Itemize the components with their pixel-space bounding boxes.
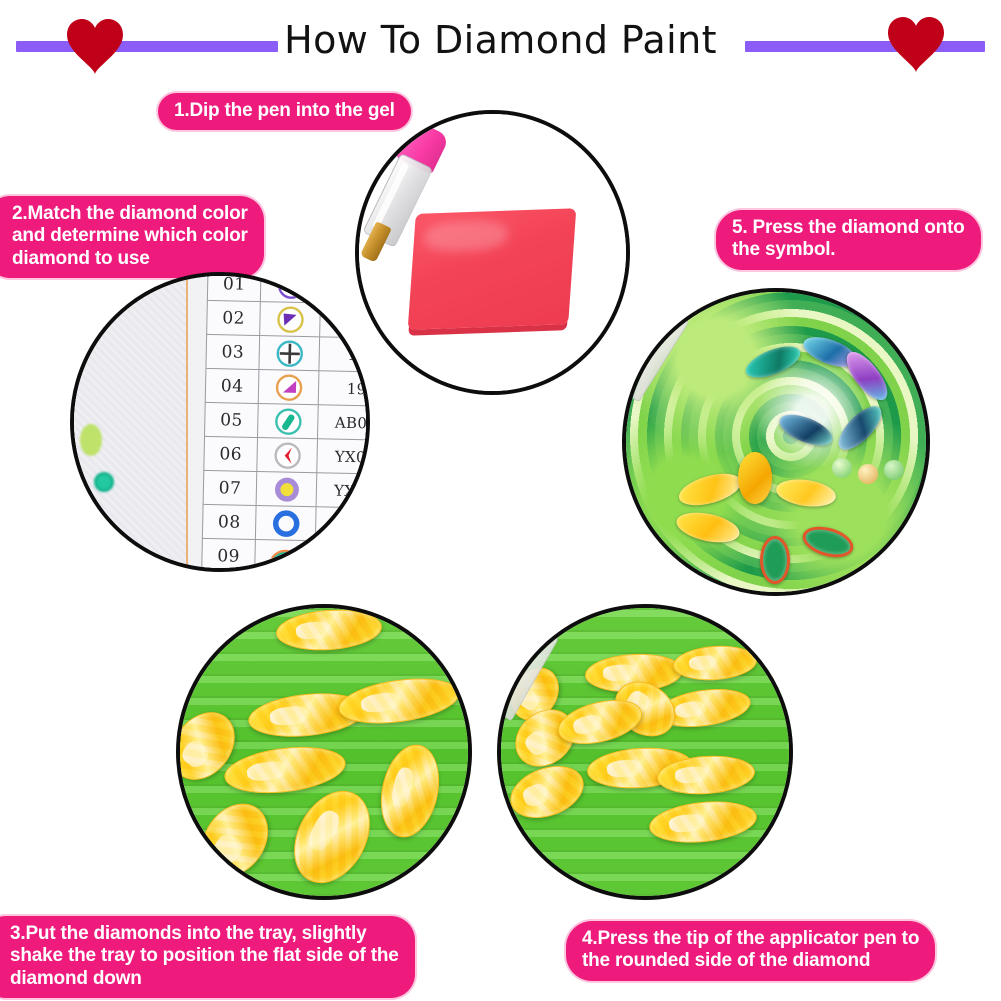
chart-cell-code: YX125 [315,541,370,572]
art-gem-marquise-yellow [674,508,742,548]
symbol-chart-illustration: 0102802093031110419505AB00406YX05807YX08… [74,276,366,568]
art-gem-marquise [742,340,805,384]
chart-edge-stripe [186,276,188,568]
chart-cell-code: 111 [319,337,370,373]
table-row: 04195 [205,368,370,406]
chart-cell-code: 028 [320,272,370,305]
dmc-symbol-table-body: 0102802093031110419505AB00406YX05807YX08… [201,272,370,572]
art-leaf-green [760,536,790,584]
canvas-blob-teal [94,472,114,492]
chart-cell-number: 05 [205,402,259,437]
diamond-gem [672,643,758,683]
chart-cell-symbol [257,438,317,473]
table-row: 08YX106 [202,504,370,542]
applicator-pen [622,298,689,454]
slash-bar-icon [273,406,304,437]
step-2-label: 2.Match the diamond color and determine … [0,196,264,278]
chart-cell-symbol [259,370,319,405]
art-gem-marquise-yellow [676,468,745,512]
chart-cell-symbol [260,302,320,337]
dot-in-ring-icon [271,474,302,505]
diamond-gem [279,778,385,896]
art-gem-marquise [832,400,888,457]
chart-cell-code: AB004 [318,405,370,441]
header: How To Diamond Paint [0,0,1001,90]
diamond-art-canvas-illustration [626,292,926,592]
diamond-gem [647,796,759,847]
diamond-gem [373,739,447,843]
chart-cell-symbol [256,506,316,541]
chart-cell-symbol [258,404,318,439]
table-row: 05AB004 [205,402,370,440]
diamond-gem [222,741,348,800]
step-4-label: 4.Press the tip of the applicator pen to… [566,921,935,981]
table-row: 06YX058 [204,436,370,474]
wax-gel-square [408,208,577,330]
diamond-pickup-illustration [501,608,789,896]
ring-icon [271,508,302,539]
diamond-gem [188,791,281,889]
chart-cell-symbol [259,336,319,371]
chart-cell-number: 03 [206,334,260,369]
diamond-gem [275,606,384,653]
chart-cell-number: 09 [202,538,256,572]
diamond-tray-illustration [180,608,468,896]
canvas-fabric [74,276,186,568]
art-gem-round [832,458,852,478]
chart-cell-code: YX083 [316,473,370,509]
pen-in-gel-illustration [359,114,626,391]
chart-cell-code: YX058 [317,439,370,475]
table-row: 09YX125 [202,538,370,572]
art-gem-marquise [840,346,895,406]
chart-cell-number: 06 [204,436,258,471]
chart-cell-number: 02 [207,300,261,335]
double-dot-icon [276,272,307,301]
chart-cell-number: 07 [203,470,257,505]
step-3-photo [176,604,472,900]
canvas-blob-green [80,424,102,456]
art-gem-marquise [776,408,837,451]
infographic-canvas: How To Diamond Paint 1.Dip the pen into … [0,0,1001,1001]
step-4-photo [497,604,793,900]
step-2-photo: 0102802093031110419505AB00406YX05807YX08… [70,272,370,572]
art-gem-marquise-yellow [774,476,837,510]
plus-icon [274,338,305,369]
chart-cell-number: 04 [205,368,259,403]
chart-cell-code: 195 [318,371,370,407]
table-row: 07YX083 [203,470,370,508]
left-arrow-icon [272,440,303,471]
chart-cell-code: 093 [320,303,370,339]
art-gem-round [858,464,878,484]
quarter-pie-icon [273,372,304,403]
art-gem-round [884,460,904,480]
step-5-label: 5. Press the diamond onto the symbol. [716,210,981,270]
dmc-symbol-table: 0102802093031110419505AB00406YX05807YX08… [200,272,370,572]
pen-tip [497,698,506,755]
chart-cell-symbol [255,540,315,572]
triangle-icon [275,304,306,335]
chart-cell-code: YX106 [315,507,370,543]
step-5-photo [622,288,930,596]
table-row: 01028 [207,272,370,305]
chart-cell-symbol [256,472,316,507]
diamond-gem [503,756,591,827]
step-1-photo [355,110,630,395]
chart-cell-number: 01 [207,272,261,302]
step-3-label: 3.Put the diamonds into the tray, slight… [0,916,415,998]
chart-cell-number: 08 [202,504,256,539]
table-row: 02093 [207,300,370,338]
art-leaf-green [799,521,857,562]
page-title: How To Diamond Paint [0,18,1001,62]
chart-cell-symbol [261,272,321,303]
art-gem-placed-yellow [738,452,772,504]
table-row: 03111 [206,334,370,372]
leaf-icon [270,542,301,572]
